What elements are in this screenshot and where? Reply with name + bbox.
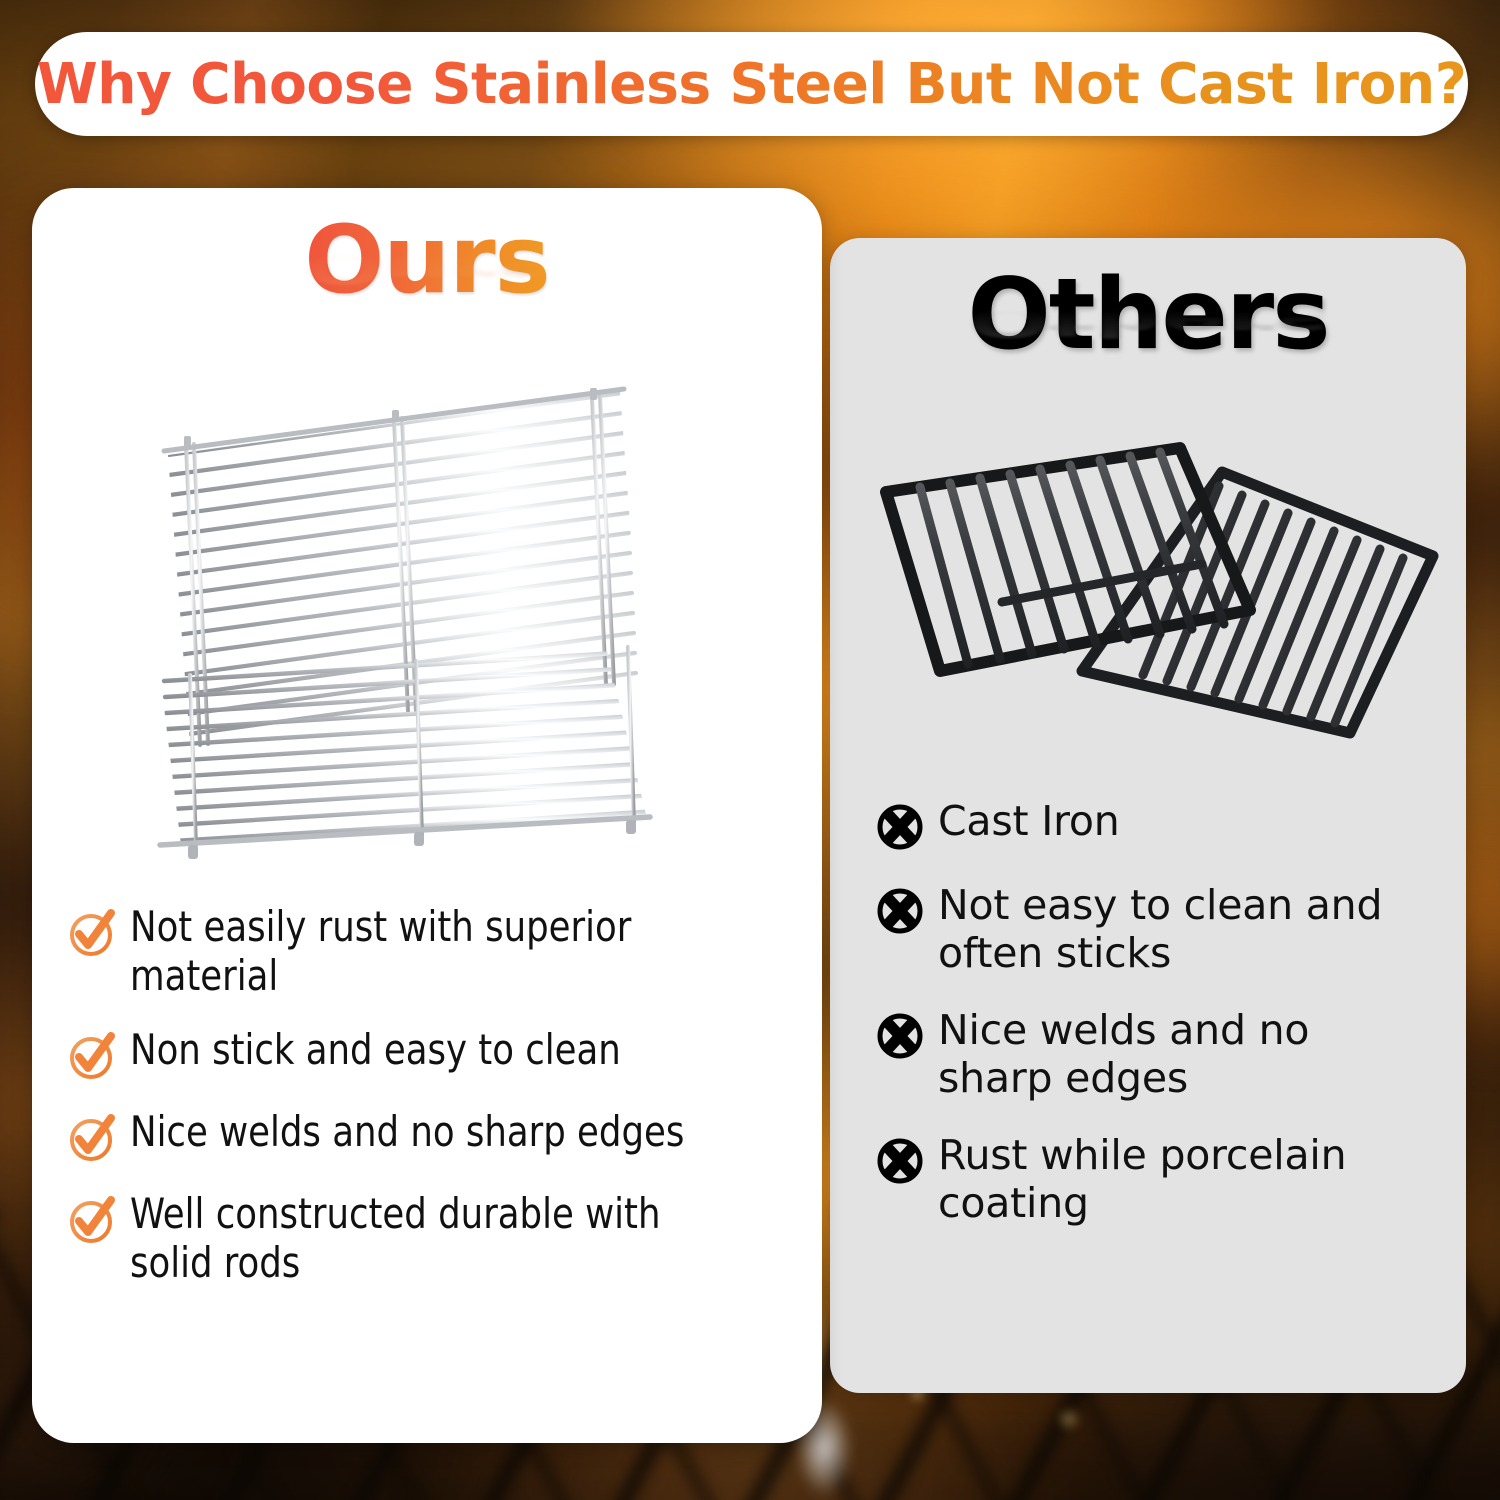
- cast-iron-grates-image: [850, 428, 1450, 788]
- list-item-label: Not easy to clean and often sticks: [938, 882, 1432, 977]
- list-item-label: Not easily rust with superior material: [130, 903, 745, 1000]
- x-circle-icon: [874, 800, 926, 852]
- list-item: Nice welds and no sharp edges: [874, 1007, 1432, 1102]
- list-item: Not easily rust with superior material: [66, 903, 784, 1000]
- others-comparison-panel: Others Others: [830, 238, 1466, 1393]
- others-heading-reflection: Others: [830, 301, 1466, 342]
- x-circle-icon: [874, 884, 926, 936]
- cast-iron-grate-front: [886, 448, 1250, 671]
- list-item: Non stick and easy to clean: [66, 1026, 784, 1082]
- stainless-steel-grates-image: [150, 383, 670, 883]
- check-circle-icon: [66, 907, 118, 959]
- title-banner: Why Choose Stainless Steel But Not Cast …: [35, 32, 1468, 136]
- others-bullet-list: Cast Iron Not easy to clean and often st…: [830, 798, 1466, 1257]
- ours-comparison-panel: Ours Ours: [32, 188, 822, 1443]
- list-item-label: Rust while porcelain coating: [938, 1132, 1432, 1227]
- ours-heading-group: Ours Ours: [32, 214, 822, 382]
- list-item-label: Nice welds and no sharp edges: [130, 1108, 684, 1157]
- list-item-label: Cast Iron: [938, 798, 1120, 846]
- x-circle-icon: [874, 1134, 926, 1186]
- list-item: Well constructed durable with solid rods: [66, 1190, 784, 1287]
- list-item: Rust while porcelain coating: [874, 1132, 1432, 1227]
- list-item: Nice welds and no sharp edges: [66, 1108, 784, 1164]
- check-circle-icon: [66, 1030, 118, 1082]
- ours-bullet-list: Not easily rust with superior material N…: [32, 903, 822, 1314]
- list-item: Cast Iron: [874, 798, 1432, 852]
- list-item: Not easy to clean and often sticks: [874, 882, 1432, 977]
- check-circle-icon: [66, 1194, 118, 1246]
- check-circle-icon: [66, 1112, 118, 1164]
- list-item-label: Non stick and easy to clean: [130, 1026, 621, 1075]
- page-title: Why Choose Stainless Steel But Not Cast …: [37, 52, 1466, 117]
- list-item-label: Well constructed durable with solid rods: [130, 1190, 745, 1287]
- list-item-label: Nice welds and no sharp edges: [938, 1007, 1432, 1102]
- ours-heading-reflection: Ours: [32, 246, 822, 288]
- cast-iron-grate-rear: [1082, 472, 1433, 733]
- others-heading-group: Others Others: [830, 266, 1466, 440]
- x-circle-icon: [874, 1009, 926, 1061]
